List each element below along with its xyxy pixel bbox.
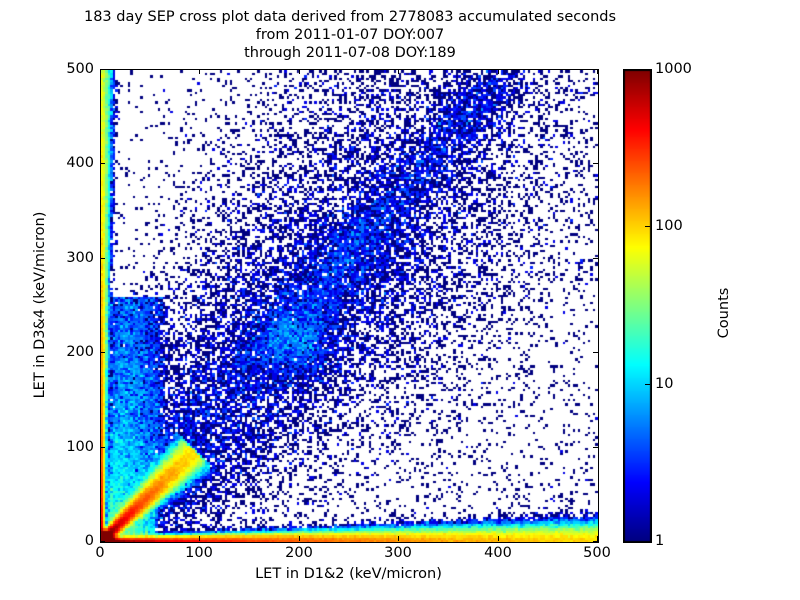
y-axis-label: LET in D3&4 (keV/micron) bbox=[32, 69, 48, 541]
y-tick-mark-right bbox=[593, 352, 598, 353]
x-axis-label: LET in D1&2 (keV/micron) bbox=[100, 566, 597, 582]
page-title: 183 day SEP cross plot data derived from… bbox=[0, 8, 700, 62]
y-tick-label: 300 bbox=[66, 250, 94, 266]
x-tick-label: 100 bbox=[185, 545, 213, 561]
y-tick-mark-right bbox=[593, 447, 598, 448]
y-tick-mark bbox=[100, 541, 105, 542]
y-tick-mark bbox=[100, 258, 105, 259]
y-tick-mark bbox=[100, 69, 105, 70]
x-tick-mark-top bbox=[398, 69, 399, 74]
x-tick-label: 300 bbox=[384, 545, 412, 561]
x-tick-label: 500 bbox=[583, 545, 611, 561]
y-tick-label: 500 bbox=[66, 61, 94, 77]
histogram-scatter-layer bbox=[101, 70, 598, 542]
y-tick-label: 400 bbox=[66, 155, 94, 171]
x-tick-label: 400 bbox=[484, 545, 512, 561]
colorbar-label: Counts bbox=[716, 193, 732, 433]
colorbar-tick-label: 1000 bbox=[655, 61, 692, 77]
x-tick-mark bbox=[398, 536, 399, 541]
y-tick-mark bbox=[100, 447, 105, 448]
y-tick-label: 100 bbox=[66, 439, 94, 455]
x-tick-mark-top bbox=[199, 69, 200, 74]
x-tick-label: 200 bbox=[285, 545, 313, 561]
x-tick-mark-top bbox=[498, 69, 499, 74]
y-tick-mark bbox=[100, 163, 105, 164]
title-line-2: from 2011-01-07 DOY:007 bbox=[0, 26, 700, 44]
x-tick-label: 0 bbox=[95, 545, 104, 561]
colorbar-tick-mark bbox=[645, 226, 650, 227]
colorbar-gradient bbox=[623, 69, 652, 543]
y-tick-mark-right bbox=[593, 258, 598, 259]
colorbar-tick-label: 1 bbox=[655, 533, 664, 549]
y-tick-label: 0 bbox=[85, 533, 94, 549]
x-tick-mark bbox=[498, 536, 499, 541]
colorbar-tick-label: 100 bbox=[655, 218, 683, 234]
figure-canvas: 183 day SEP cross plot data derived from… bbox=[0, 0, 800, 600]
title-line-1: 183 day SEP cross plot data derived from… bbox=[0, 8, 700, 26]
y-tick-mark-right bbox=[593, 541, 598, 542]
x-tick-mark-top bbox=[299, 69, 300, 74]
plot-area bbox=[100, 69, 599, 543]
x-tick-mark bbox=[299, 536, 300, 541]
y-tick-mark bbox=[100, 352, 105, 353]
colorbar-tick-label: 10 bbox=[655, 376, 673, 392]
colorbar bbox=[623, 69, 650, 541]
x-tick-mark bbox=[199, 536, 200, 541]
y-tick-label: 200 bbox=[66, 344, 94, 360]
y-tick-mark-right bbox=[593, 163, 598, 164]
title-line-3: through 2011-07-08 DOY:189 bbox=[0, 44, 700, 62]
colorbar-tick-mark bbox=[645, 384, 650, 385]
y-tick-mark-right bbox=[593, 69, 598, 70]
